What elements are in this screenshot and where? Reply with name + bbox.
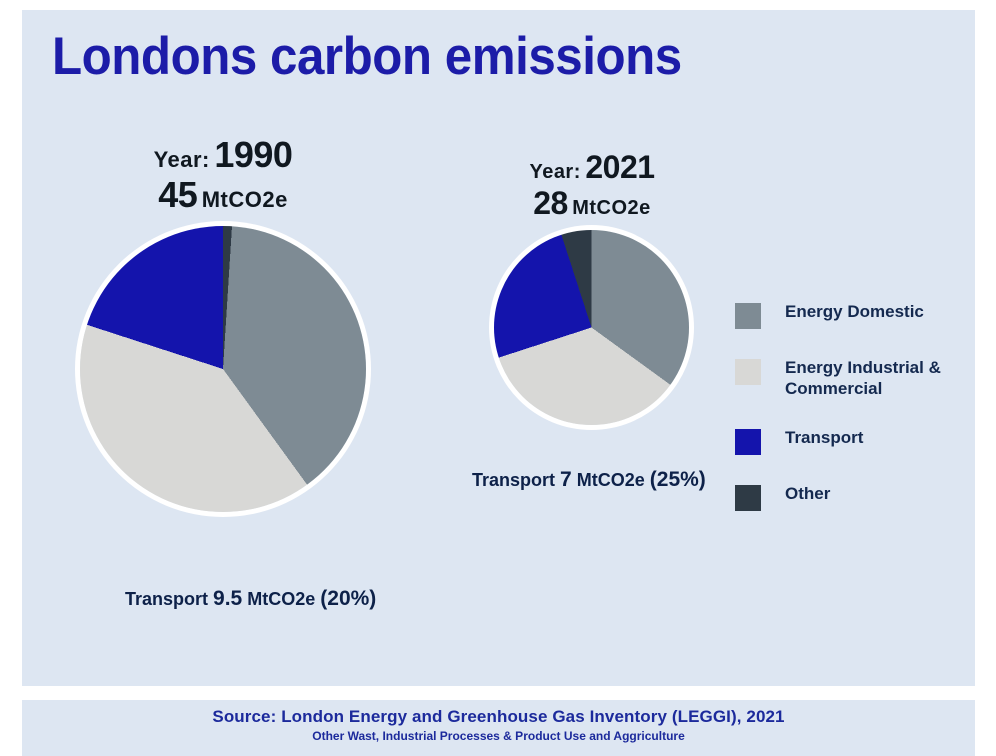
total-value-2021: 28 (533, 185, 568, 221)
legend-swatch-energy-industrial-commercial (735, 359, 761, 385)
legend-item-label: Transport (785, 428, 863, 449)
total-unit-1990: MtCO2e (202, 187, 288, 212)
pie-chart-2021 (494, 230, 689, 425)
caption-unit-2021: MtCO2e (577, 470, 645, 490)
pie-headline-2021: Year: 2021 28 MtCO2e (477, 150, 707, 222)
legend-swatch-other (735, 485, 761, 511)
pie-block-2021: Year: 2021 28 MtCO2e Transport 7 MtCO2e … (477, 150, 707, 425)
source-note-line: Other Wast, Industrial Processes & Produ… (22, 729, 975, 743)
caption-name-2021: Transport (472, 470, 555, 490)
caption-percent-2021: (25%) (650, 468, 706, 491)
legend-item-label: Energy Domestic (785, 302, 924, 323)
footer-band: Source: London Energy and Greenhouse Gas… (22, 700, 975, 756)
total-unit-2021: MtCO2e (572, 197, 651, 219)
caption-value-1990: 9.5 (213, 587, 242, 610)
legend-item: Energy Industrial & Commercial (735, 358, 965, 399)
year-label-2021: Year: (529, 161, 580, 183)
pie-caption-2021: Transport 7 MtCO2e (25%) (472, 468, 706, 492)
year-value-1990: 1990 (214, 134, 292, 175)
year-value-2021: 2021 (585, 149, 654, 185)
page-title: Londons carbon emissions (52, 26, 682, 87)
legend-item-label: Energy Industrial & Commercial (785, 358, 941, 399)
pie-chart-1990 (80, 226, 366, 512)
legend-item: Other (735, 484, 965, 511)
legend-item-label: Other (785, 484, 830, 505)
total-value-1990: 45 (158, 174, 197, 215)
pie-wrapper-2021 (494, 230, 689, 425)
caption-value-2021: 7 (560, 468, 572, 491)
year-label-1990: Year: (154, 147, 210, 172)
legend-swatch-transport (735, 429, 761, 455)
caption-percent-1990: (20%) (320, 587, 376, 610)
slide-panel: Londons carbon emissions Year: 1990 45 M… (22, 10, 975, 686)
pie-wrapper-1990 (80, 226, 366, 512)
legend-item: Energy Domestic (735, 302, 965, 329)
legend-item: Transport (735, 428, 965, 455)
pie-caption-1990: Transport 9.5 MtCO2e (20%) (125, 587, 376, 611)
caption-unit-1990: MtCO2e (247, 589, 315, 609)
pie-block-1990: Year: 1990 45 MtCO2e Transport 9.5 MtCO2… (80, 135, 366, 512)
pie-headline-1990: Year: 1990 45 MtCO2e (80, 135, 366, 216)
chart-legend: Energy DomesticEnergy Industrial & Comme… (735, 302, 965, 540)
caption-name-1990: Transport (125, 589, 208, 609)
source-line: Source: London Energy and Greenhouse Gas… (22, 700, 975, 727)
legend-swatch-energy-domestic (735, 303, 761, 329)
